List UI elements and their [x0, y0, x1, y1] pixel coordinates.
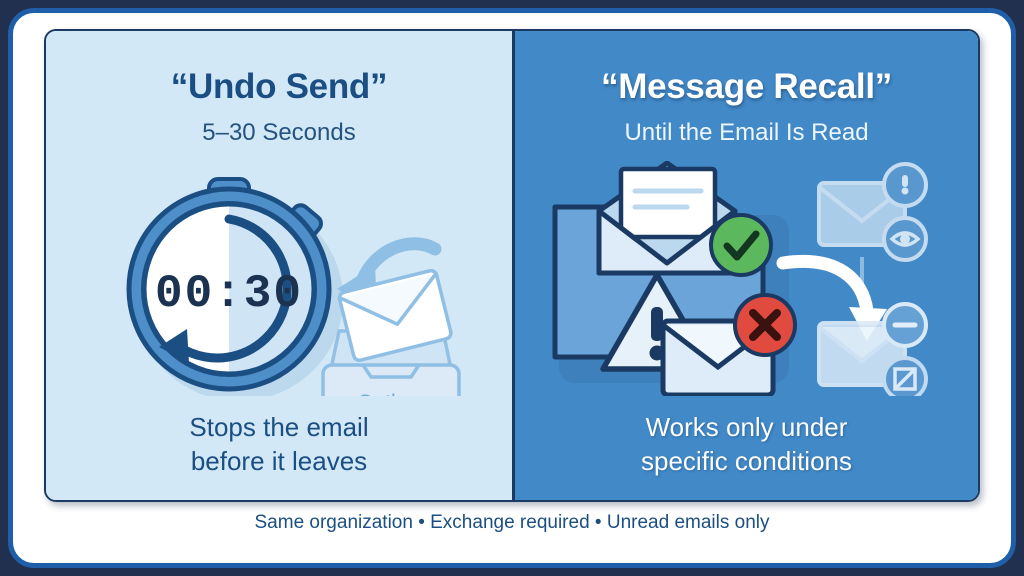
alert-badge-icon	[884, 164, 926, 206]
outbox-label: Outbox	[357, 391, 425, 396]
panel-right-caption: Works only under specific conditions	[641, 411, 852, 478]
comparison-panels: “Undo Send” 5–30 Seconds	[44, 29, 980, 502]
eye-badge-icon	[884, 218, 926, 260]
panel-undo-send: “Undo Send” 5–30 Seconds	[46, 31, 512, 500]
stopwatch-outbox-illustration: 00:30 Outbox	[46, 145, 512, 412]
panel-message-recall: “Message Recall” Until the Email Is Read	[512, 31, 978, 500]
unread-envelope-icon	[819, 164, 926, 260]
blocked-badge-icon	[884, 358, 926, 396]
infographic-root: “Undo Send” 5–30 Seconds	[0, 0, 1024, 576]
stopwatch-time-display: 00:30	[155, 268, 303, 320]
stopwatch-time-text: 00:30	[155, 268, 303, 320]
check-badge-icon	[711, 215, 771, 275]
outbox-tray-group: Outbox	[323, 243, 459, 395]
minus-badge-icon	[884, 304, 926, 346]
footer-conditions-note: Same organization • Exchange required • …	[44, 512, 980, 534]
recall-conditions-illustration	[515, 145, 978, 412]
panel-right-heading: “Message Recall”	[601, 69, 892, 106]
cross-badge-icon	[735, 295, 795, 355]
panel-right-subheading: Until the Email Is Read	[624, 119, 868, 147]
panel-left-subheading: 5–30 Seconds	[202, 119, 355, 147]
panel-left-heading: “Undo Send”	[171, 69, 387, 106]
panel-left-caption: Stops the email before it leaves	[189, 411, 368, 478]
